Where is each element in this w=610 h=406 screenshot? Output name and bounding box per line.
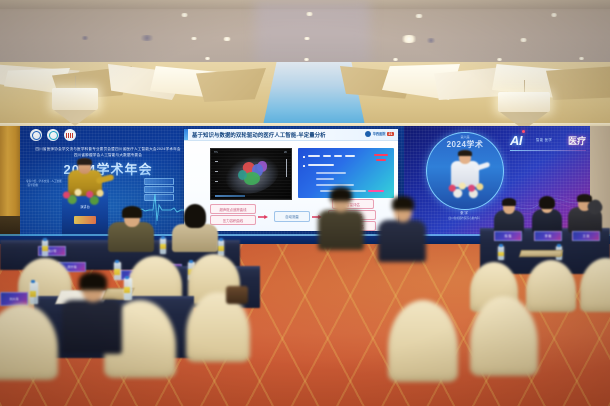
highlight-red-text (376, 159, 386, 161)
speaker-hair (77, 158, 92, 165)
audience-hair (330, 187, 352, 201)
ceiling-spotlight (204, 57, 211, 60)
ultrasound-marker-right (286, 159, 288, 177)
floor-bag (226, 286, 248, 304)
ceiling-spotlight (190, 37, 198, 40)
foreground-audience-member (62, 272, 122, 352)
ceiling-spotlight (303, 58, 310, 61)
ultrasound-caption-bar (215, 195, 245, 197)
ultrasound-depth-tick (215, 161, 218, 162)
bullet-dot (303, 156, 305, 158)
bullet-subtext-line (316, 178, 334, 180)
pendant-lamp-right (498, 80, 550, 130)
ceiling-recessed-vent (80, 36, 90, 40)
audience-hair (392, 196, 414, 210)
audience-torso (378, 220, 426, 262)
ceiling (0, 0, 610, 68)
highlight-pink-text (368, 190, 384, 192)
water-bottle (160, 238, 166, 254)
podium-flower-arrangement (443, 181, 489, 199)
circle-top-text: 2024学术 (427, 139, 503, 150)
association-logo-3-icon (64, 129, 76, 141)
banner-subtitle-line-1: 四川省医师协会学交流与医学科普专业委员会暨四川省医疗人工智能大会2024学术年会 (28, 147, 188, 152)
speaker-name: 张 宇 (460, 211, 468, 215)
pendant-shade (52, 88, 98, 110)
water-bottle (30, 282, 38, 304)
pendant-stem (75, 76, 76, 88)
panelist-hair (502, 198, 516, 206)
institution-logo-text: 华西医院 (373, 131, 386, 136)
panelist-placard: 王 建 (572, 231, 600, 241)
water-bottle (498, 246, 504, 260)
panelist-2 (530, 194, 564, 232)
flow-arrow-icon (258, 215, 268, 219)
ceiling-center-light-wash (255, 0, 370, 68)
banner-subtitle-line-2: 四川省肿瘤学会人工智能与大数据专委会 (28, 153, 188, 158)
highlight-red-text (374, 154, 388, 156)
audience-hair (122, 206, 142, 218)
ceiling-spotlight (305, 12, 314, 16)
ai-sub-text: 智能 医学 (536, 137, 552, 142)
ceiling-facet (196, 68, 266, 102)
flow-process-box: 自动测量 (274, 211, 310, 222)
ai-chinese-text: 医疗 (568, 134, 586, 147)
pendant-shade (498, 92, 550, 112)
pendant-stem (524, 80, 525, 92)
speaker-hair (458, 150, 472, 156)
echocardiogram-image: TIS 2D (210, 148, 292, 200)
bullet-subtext-line (316, 172, 346, 174)
audience-member (172, 204, 218, 250)
podium-flower-arrangement (56, 186, 114, 206)
bullet-subtext-line (316, 184, 354, 186)
ceiling-spotlight (303, 37, 311, 40)
bullet-text-line (345, 155, 355, 157)
slide-logo-badge: 21 (387, 132, 394, 136)
ceiling-spotlight (578, 57, 585, 60)
slide-institution-logo: 华西医院 21 (365, 131, 394, 137)
ultrasound-label-right: 2D (284, 151, 287, 154)
bullet-text-line (323, 155, 331, 157)
pendant-cone (54, 110, 96, 126)
audience-hair (79, 272, 107, 290)
ceiling-recessed-vent (425, 38, 437, 43)
segmentation-overlay-teal (238, 170, 247, 180)
water-bottle (124, 278, 132, 300)
ceiling-spotlight (519, 38, 528, 42)
association-logo-1-icon (30, 129, 42, 141)
ceiling-spotlight (180, 13, 189, 17)
audience-torso (318, 210, 364, 250)
audience-torso (172, 224, 218, 252)
ai-banner-rule (510, 150, 586, 151)
ceiling-spotlight (392, 58, 399, 61)
bullet-text-line (308, 155, 320, 157)
foreground-audience-member (378, 196, 426, 260)
bullet-text-line (308, 164, 334, 166)
panelist-1 (492, 196, 526, 232)
organizer-logos (30, 129, 76, 141)
audience-torso (62, 300, 122, 354)
ceiling-spotlight (414, 14, 424, 18)
panelist-hair (539, 196, 555, 209)
ceiling-spotlight (222, 37, 232, 41)
ultrasound-depth-tick (215, 171, 218, 172)
foreground-audience-member (318, 188, 364, 248)
pendant-lamp-left (52, 76, 98, 126)
slide-accent-bar (184, 129, 188, 140)
ceiling-spotlight (496, 58, 503, 61)
audience-hair (184, 204, 206, 228)
institution-logo-icon (365, 131, 371, 137)
slide-title: 基于知识与数据的双轮驱动的医疗人工智能-半定量分析 (192, 131, 326, 139)
ceiling-spotlight (550, 13, 558, 17)
document-folder (519, 250, 563, 257)
ai-logo-text: AI (510, 133, 522, 148)
bullet-text-line (334, 155, 342, 157)
ultrasound-depth-tick (215, 181, 218, 182)
audience-member (108, 206, 154, 250)
conference-hall-photo: 四川省医师协会学交流与医学科普专业委员会暨四川省医疗人工智能大会2024学术年会… (0, 0, 610, 406)
ultrasound-label-left: TIS (214, 151, 218, 154)
ai-logo-dot-icon (522, 130, 525, 133)
ceiling-downlight-large (400, 35, 418, 43)
panelist-placard: 陈 强 (494, 231, 522, 241)
panelist-placard: 李 敏 (534, 231, 562, 241)
podium-logo-icon (74, 216, 96, 224)
panelist-3 (566, 192, 604, 232)
association-logo-2-icon (47, 129, 59, 141)
ceiling-facet (546, 66, 610, 100)
water-bottle (42, 240, 48, 256)
ai-medical-banner: AI 智能 医学 医疗 (510, 131, 586, 153)
bullet-dot (303, 165, 305, 167)
ceiling-recessed-vent (138, 35, 156, 41)
